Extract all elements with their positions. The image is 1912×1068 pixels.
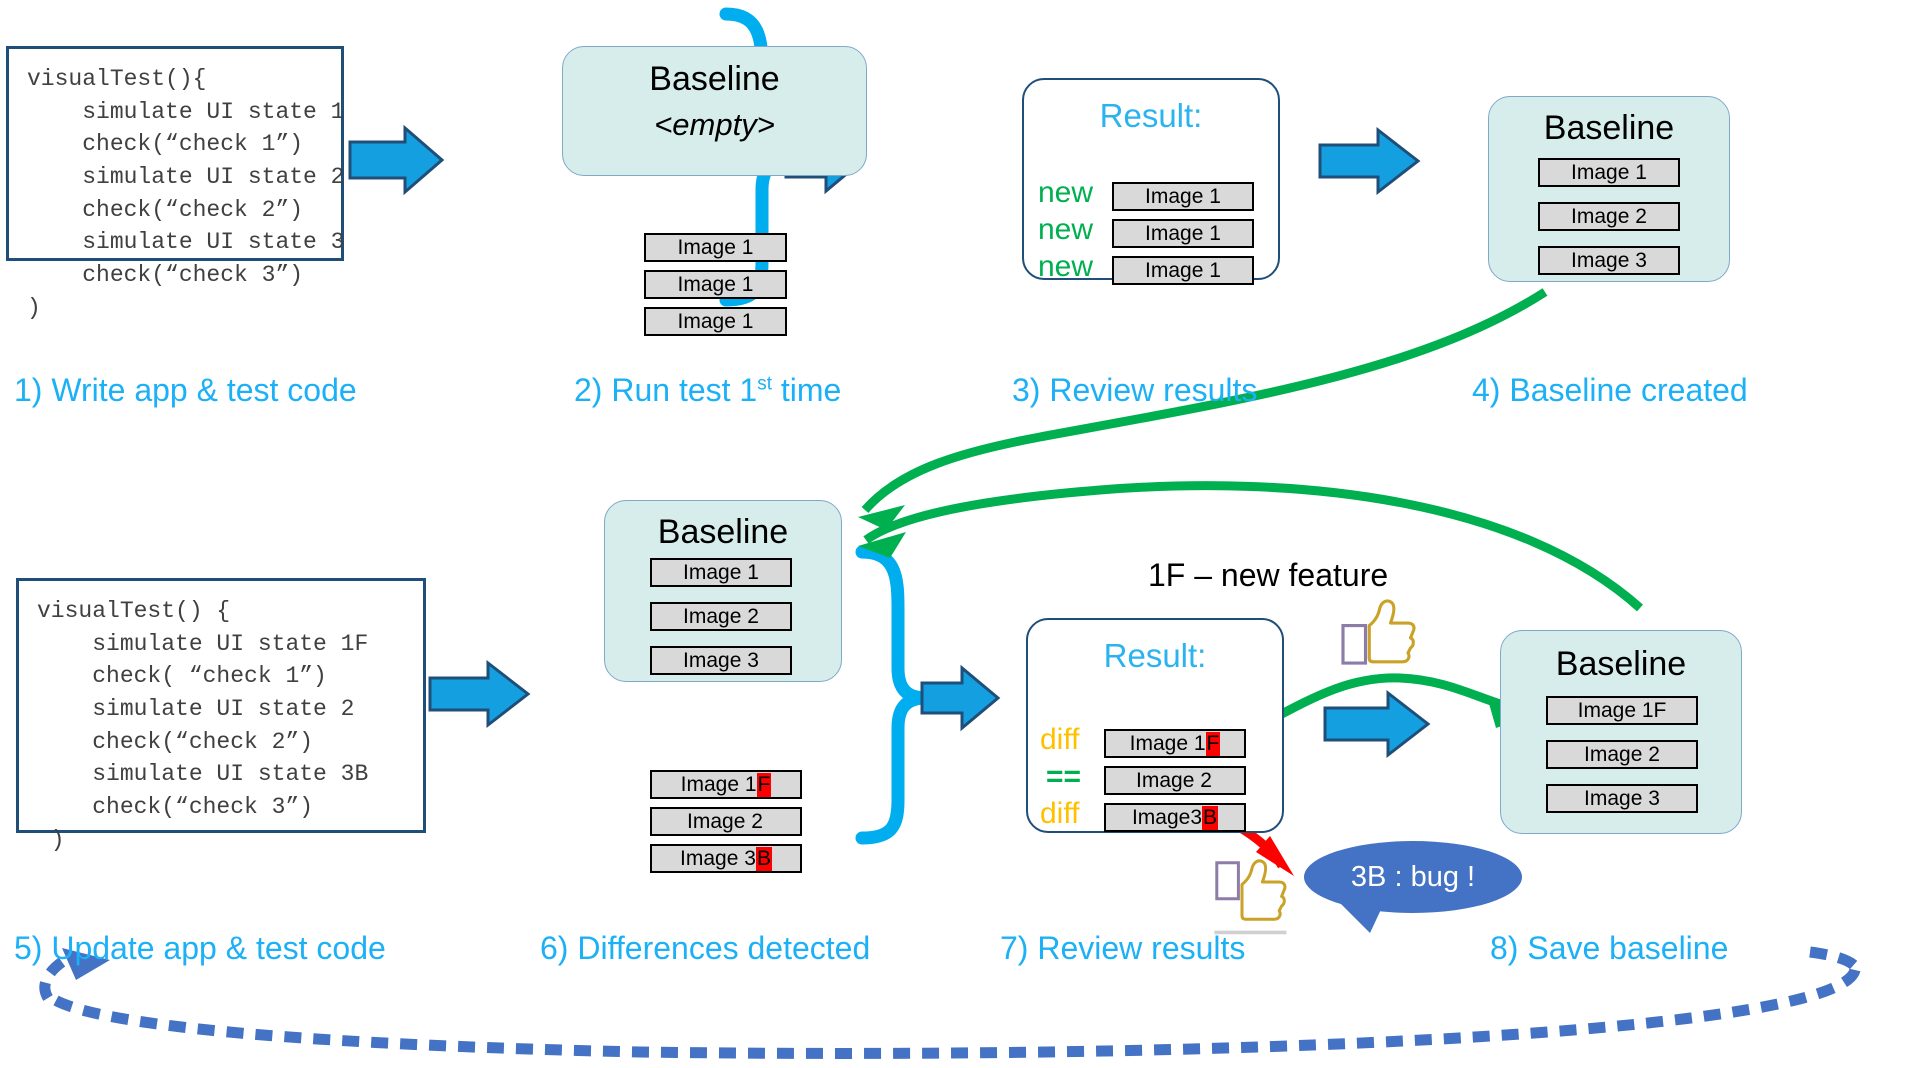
caption-step-2-ordinal: st (757, 373, 772, 394)
result-panel-step7-title: Result: (1028, 637, 1282, 675)
result-tag-new: new (1038, 250, 1093, 284)
result-image-highlight: F (1206, 732, 1221, 756)
baseline-image-chip: Image 3 (650, 646, 792, 675)
result-tag-new: new (1038, 176, 1093, 210)
code-box-step1: visualTest(){ simulate UI state 1 check(… (6, 46, 344, 261)
run-image-highlight: F (757, 773, 772, 797)
run-image-highlight: B (756, 847, 772, 871)
caption-step-5: 5) Update app & test code (14, 930, 386, 967)
result-image-label: Image 2 (1136, 769, 1212, 793)
arrow-step3-to-4 (1320, 130, 1418, 192)
thumbs-down-icon (1214, 861, 1286, 933)
run-image-chip: Image 3B (650, 844, 802, 873)
result-image-chip: Image3B (1104, 803, 1246, 832)
bug-bubble-tail (1340, 903, 1384, 933)
caption-step-4: 4) Baseline created (1472, 372, 1748, 409)
run-image-chip: Image 1 (644, 307, 787, 336)
run-image-chip: Image 2 (650, 807, 802, 836)
caption-step-7: 7) Review results (1000, 930, 1245, 967)
result-tag-diff: diff (1040, 797, 1079, 831)
run-image-chip: Image 1 (644, 233, 787, 262)
result-image-chip: Image 1F (1104, 729, 1246, 758)
code-text-step1: visualTest(){ simulate UI state 1 check(… (9, 49, 341, 338)
arrow-step6-to-7 (922, 668, 998, 728)
result-image-label: Image 1 (1130, 732, 1206, 756)
result-tag-equal: == (1046, 760, 1081, 794)
baseline-image-chip: Image 1 (650, 558, 792, 587)
arrow-step1-to-2 (350, 128, 442, 192)
run-image-label: Image 3 (680, 847, 756, 871)
result-tag-new: new (1038, 213, 1093, 247)
baseline-panel-empty: Baseline <empty> (562, 46, 867, 176)
caption-step-2-suffix: time (772, 372, 841, 408)
result-image-chip: Image 1 (1112, 256, 1254, 285)
brace-row2 (862, 552, 926, 838)
result-image-highlight: B (1202, 806, 1218, 830)
baseline-image-chip: Image 3 (1538, 246, 1680, 275)
baseline-panel-current-title: Baseline (605, 513, 841, 552)
baseline-image-chip: Image 2 (650, 602, 792, 631)
result-tag-diff: diff (1040, 723, 1079, 757)
caption-step-2-prefix: 2) Run test 1 (574, 372, 757, 408)
run-image-label: Image 2 (687, 810, 763, 834)
arrow-step7-to-8 (1325, 693, 1428, 755)
code-box-step5: visualTest() { simulate UI state 1F chec… (16, 578, 426, 833)
result-panel-step3-title: Result: (1024, 97, 1278, 135)
bug-bubble: 3B : bug ! (1304, 841, 1522, 913)
thumbs-up-icon (1343, 601, 1414, 663)
baseline-image-chip: Image 2 (1538, 202, 1680, 231)
result-image-label: Image3 (1132, 806, 1202, 830)
arrow-step5-to-6 (430, 663, 528, 725)
baseline-image-chip: Image 1 (1538, 158, 1680, 187)
new-feature-note: 1F – new feature (1148, 557, 1388, 594)
baseline-panel-created-title: Baseline (1489, 109, 1729, 148)
baseline-panel-saved-title: Baseline (1501, 645, 1741, 684)
baseline-panel-empty-subtitle: <empty> (563, 107, 866, 143)
run-image-chip: Image 1 (644, 270, 787, 299)
run-image-label: Image 1 (681, 773, 757, 797)
run-image-chip: Image 1F (650, 770, 802, 799)
baseline-image-chip: Image 2 (1546, 740, 1698, 769)
caption-step-6: 6) Differences detected (540, 930, 870, 967)
green-arrow-baseline-carry-1 (858, 292, 1545, 530)
result-image-chip: Image 2 (1104, 766, 1246, 795)
diagram-canvas: visualTest(){ simulate UI state 1 check(… (0, 0, 1912, 1068)
caption-step-8: 8) Save baseline (1490, 930, 1728, 967)
baseline-image-chip: Image 1F (1546, 696, 1698, 725)
baseline-panel-empty-title: Baseline (563, 60, 866, 99)
baseline-image-chip: Image 3 (1546, 784, 1698, 813)
result-image-chip: Image 1 (1112, 182, 1254, 211)
caption-step-3: 3) Review results (1012, 372, 1257, 409)
code-text-step5: visualTest() { simulate UI state 1F chec… (19, 581, 423, 870)
caption-step-1: 1) Write app & test code (14, 372, 357, 409)
result-image-chip: Image 1 (1112, 219, 1254, 248)
caption-step-2: 2) Run test 1st time (574, 372, 841, 409)
